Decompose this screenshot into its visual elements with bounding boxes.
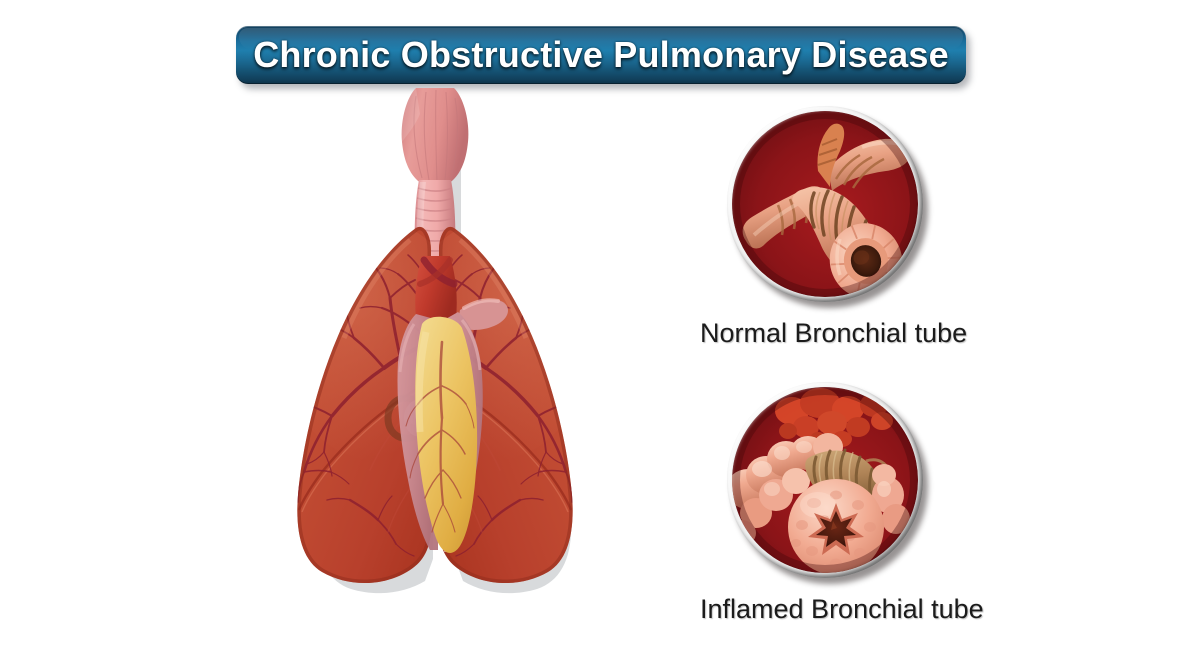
normal-inset-disc xyxy=(732,111,918,297)
title-banner: Chronic Obstructive Pulmonary Disease xyxy=(236,26,966,84)
page-title: Chronic Obstructive Pulmonary Disease xyxy=(253,34,949,76)
diagram-canvas: Chronic Obstructive Pulmonary Disease xyxy=(0,0,1200,657)
normal-bronchial-tube-inset: Normal Bronchial tube xyxy=(700,106,950,349)
inflamed-inset-disc xyxy=(732,387,918,573)
normal-inset-circle-frame xyxy=(727,106,923,302)
larynx xyxy=(402,88,469,184)
lungs-figure xyxy=(210,80,660,625)
inflamed-inset-label: Inflamed Bronchial tube xyxy=(700,594,950,625)
normal-inset-label: Normal Bronchial tube xyxy=(700,318,950,349)
inflamed-bronchial-tube-inset: Inflamed Bronchial tube xyxy=(700,382,950,625)
inflamed-inset-circle-frame xyxy=(727,382,923,578)
